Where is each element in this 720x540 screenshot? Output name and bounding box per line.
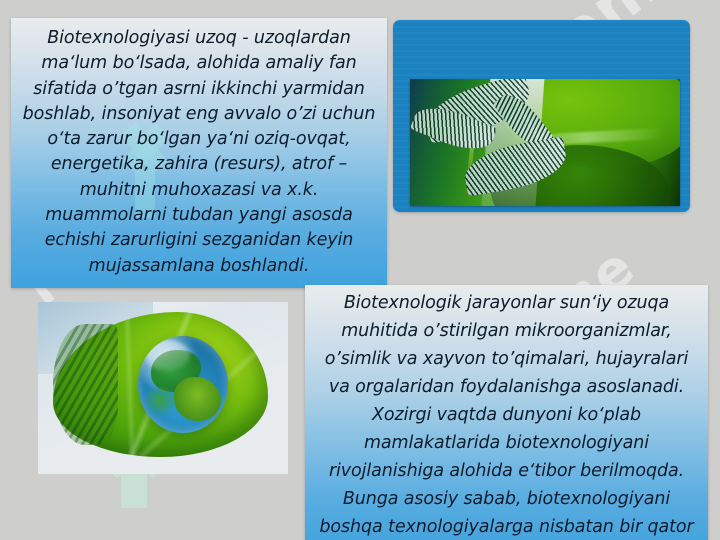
slide-canvas: ppt-online ppt-online ppt-online bbox=[0, 0, 720, 540]
text-box-secondary: Biotexnologik jarayonlar sun‘iy ozuqa mu… bbox=[305, 285, 708, 540]
text-box-secondary-body: Biotexnologik jarayonlar sun‘iy ozuqa mu… bbox=[317, 289, 696, 540]
text-box-main: Biotexnologiyasi uzoq - uzoqlardan ma‘lu… bbox=[11, 18, 387, 288]
globe-photo bbox=[38, 302, 288, 474]
text-box-main-body: Biotexnologiyasi uzoq - uzoqlardan ma‘lu… bbox=[21, 26, 377, 279]
leaf-photo bbox=[410, 79, 680, 206]
